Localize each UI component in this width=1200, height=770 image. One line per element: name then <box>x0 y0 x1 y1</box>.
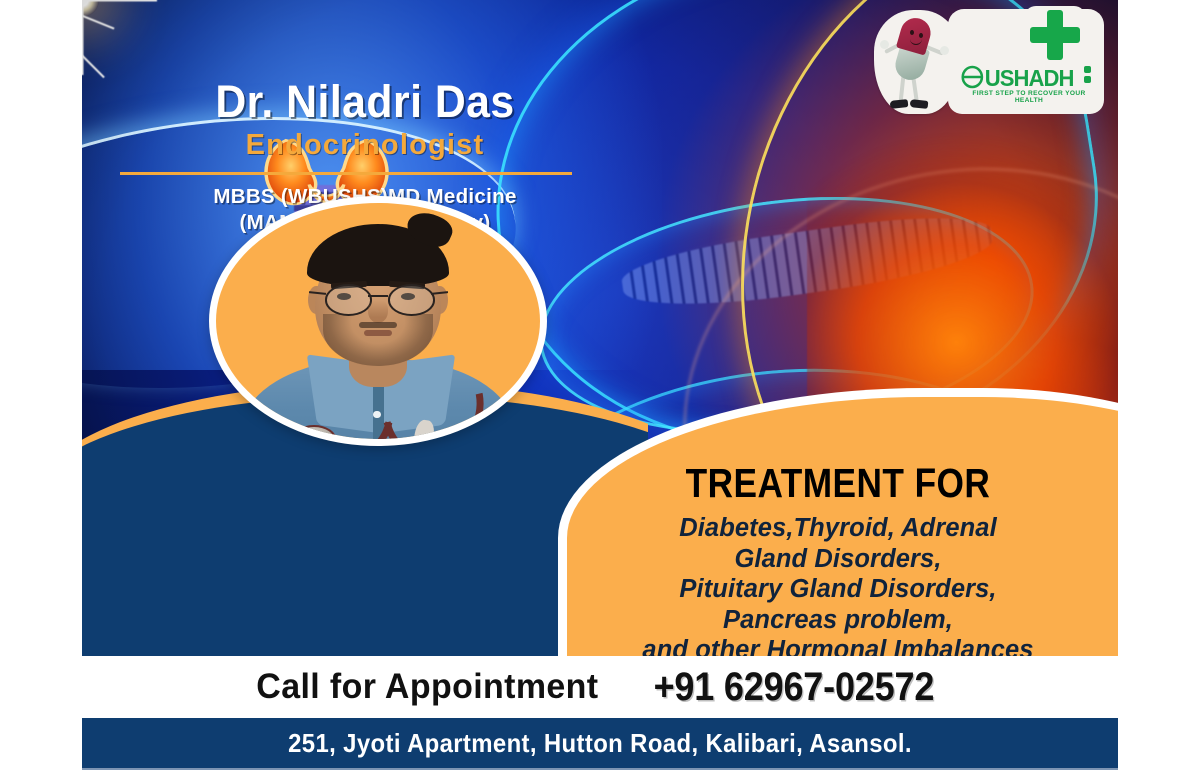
eyeglasses-icon-right-lens <box>388 284 435 315</box>
doctor-name: Dr. Niladri Das <box>96 76 634 128</box>
mascot-shoe-right <box>910 99 929 109</box>
call-for-appointment-band: Call for Appointment +91 62967-02572 <box>82 656 1118 718</box>
medical-advertisement-poster: Dr. Niladri Das Endocrinologist MBBS (WB… <box>82 0 1118 770</box>
address-bar: 251, Jyoti Apartment, Hutton Road, Kalib… <box>82 718 1118 770</box>
medical-cross-icon <box>1030 10 1080 60</box>
doctor-divider-rule <box>120 172 572 175</box>
treatment-conditions-list: Diabetes,Thyroid, Adrenal Gland Disorder… <box>562 513 1114 666</box>
treatment-title: TREATMENT FOR <box>597 460 1079 507</box>
treatment-text-group: TREATMENT FOR Diabetes,Thyroid, Adrenal … <box>558 388 1118 656</box>
eyeglasses-bridge <box>368 295 389 297</box>
mascot-shoe-left <box>890 99 909 109</box>
mascot-leg-left <box>899 76 906 102</box>
pill-capsule-mascot-icon <box>882 16 952 112</box>
poster-canvas: Dr. Niladri Das Endocrinologist MBBS (WB… <box>0 0 1200 770</box>
condition-line: Diabetes,Thyroid, Adrenal <box>562 513 1114 544</box>
mascot-hand-right <box>940 46 949 55</box>
portrait-nose <box>368 300 387 324</box>
eyeglasses-icon-left-lens <box>325 284 372 315</box>
doctor-portrait-photo <box>209 196 547 446</box>
brand-tagline: FIRST STEP TO RECOVER YOUR HEALTH <box>958 90 1100 104</box>
clinic-address: 251, Jyoti Apartment, Hutton Road, Kalib… <box>288 728 912 759</box>
brand-logo[interactable]: USHADH FIRST STEP TO RECOVER YOUR HEALTH <box>872 8 1106 116</box>
doctor-specialty: Endocrinologist <box>82 129 648 162</box>
phone-number[interactable]: +91 62967-02572 <box>653 665 934 710</box>
mascot-hand-left <box>880 40 889 49</box>
condition-line: Pancreas problem, <box>562 605 1114 636</box>
condition-line: Gland Disorders, <box>562 544 1114 575</box>
portrait-moustache <box>359 322 398 328</box>
portrait-shirt-button <box>373 411 380 418</box>
condition-line: Pituitary Gland Disorders, <box>562 574 1114 605</box>
portrait-mouth <box>364 330 393 336</box>
svg-text:USHADH: USHADH <box>985 66 1074 90</box>
mascot-eye-left <box>910 30 914 35</box>
call-label: Call for Appointment <box>256 667 598 707</box>
